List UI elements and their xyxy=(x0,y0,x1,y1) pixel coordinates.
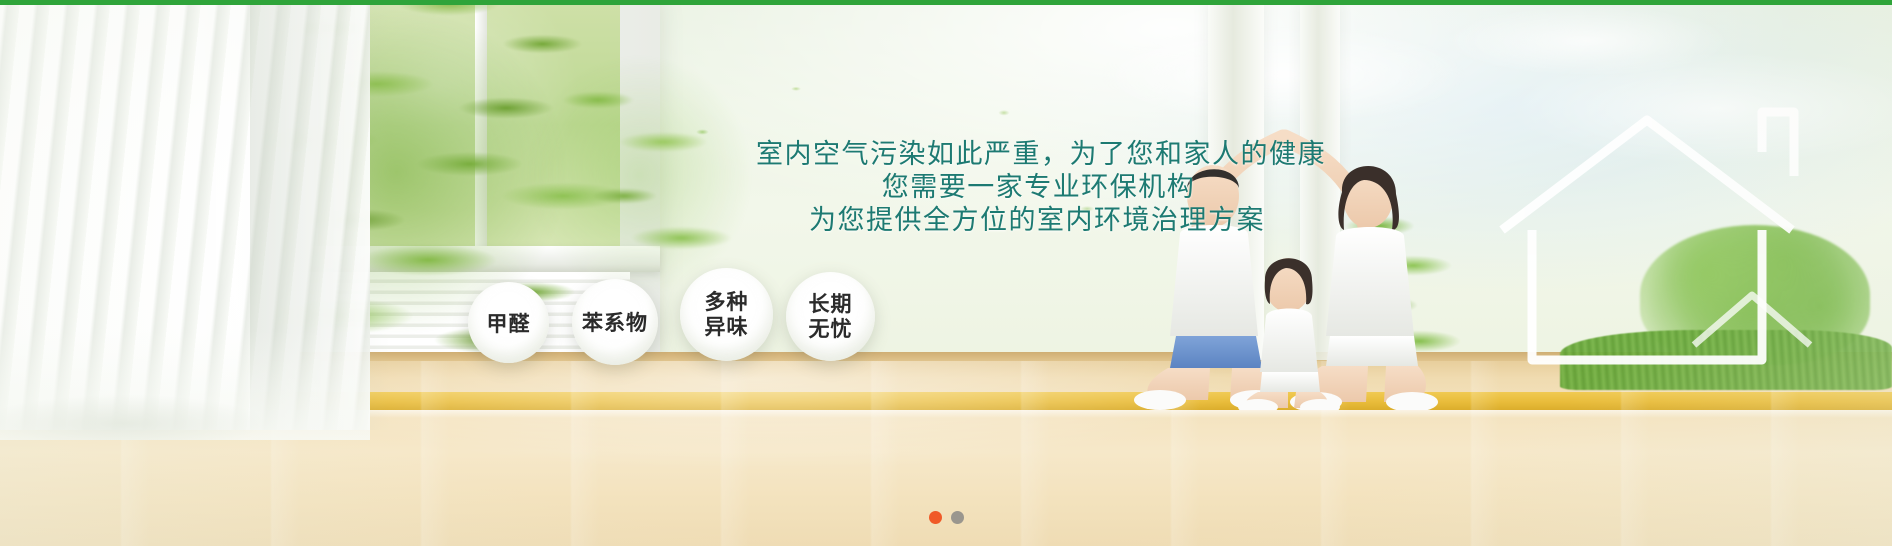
hero-banner-carousel[interactable]: 室内空气污染如此严重，为了您和家人的健康 您需要一家专业环保机构 为您提供全方位… xyxy=(0,0,1892,546)
top-green-rule xyxy=(0,0,1892,5)
badge-multiple-odors-line2: 异味 xyxy=(705,315,749,339)
badge-formaldehyde[interactable]: 甲醛 xyxy=(468,282,549,363)
badge-multiple-odors-line1: 多种 xyxy=(705,290,749,314)
badge-multiple-odors-label: 多种 异味 xyxy=(705,290,749,340)
badge-formaldehyde-label: 甲醛 xyxy=(487,308,531,338)
carousel-dot-1[interactable] xyxy=(929,511,942,524)
badge-long-term-worry-free-label: 长期 无忧 xyxy=(809,292,853,342)
carousel-pagination[interactable] xyxy=(0,511,1892,524)
badge-long-term-line1: 长期 xyxy=(809,292,853,316)
badge-long-term-line2: 无忧 xyxy=(809,317,853,341)
badge-benzene-series[interactable]: 苯系物 xyxy=(572,279,658,365)
carousel-dot-2[interactable] xyxy=(951,511,964,524)
badge-long-term-worry-free[interactable]: 长期 无忧 xyxy=(786,272,875,361)
feature-badges: 甲醛 苯系物 多种 异味 长期 无忧 xyxy=(0,0,1892,546)
badge-benzene-series-label: 苯系物 xyxy=(582,307,648,337)
badge-multiple-odors[interactable]: 多种 异味 xyxy=(680,268,773,361)
